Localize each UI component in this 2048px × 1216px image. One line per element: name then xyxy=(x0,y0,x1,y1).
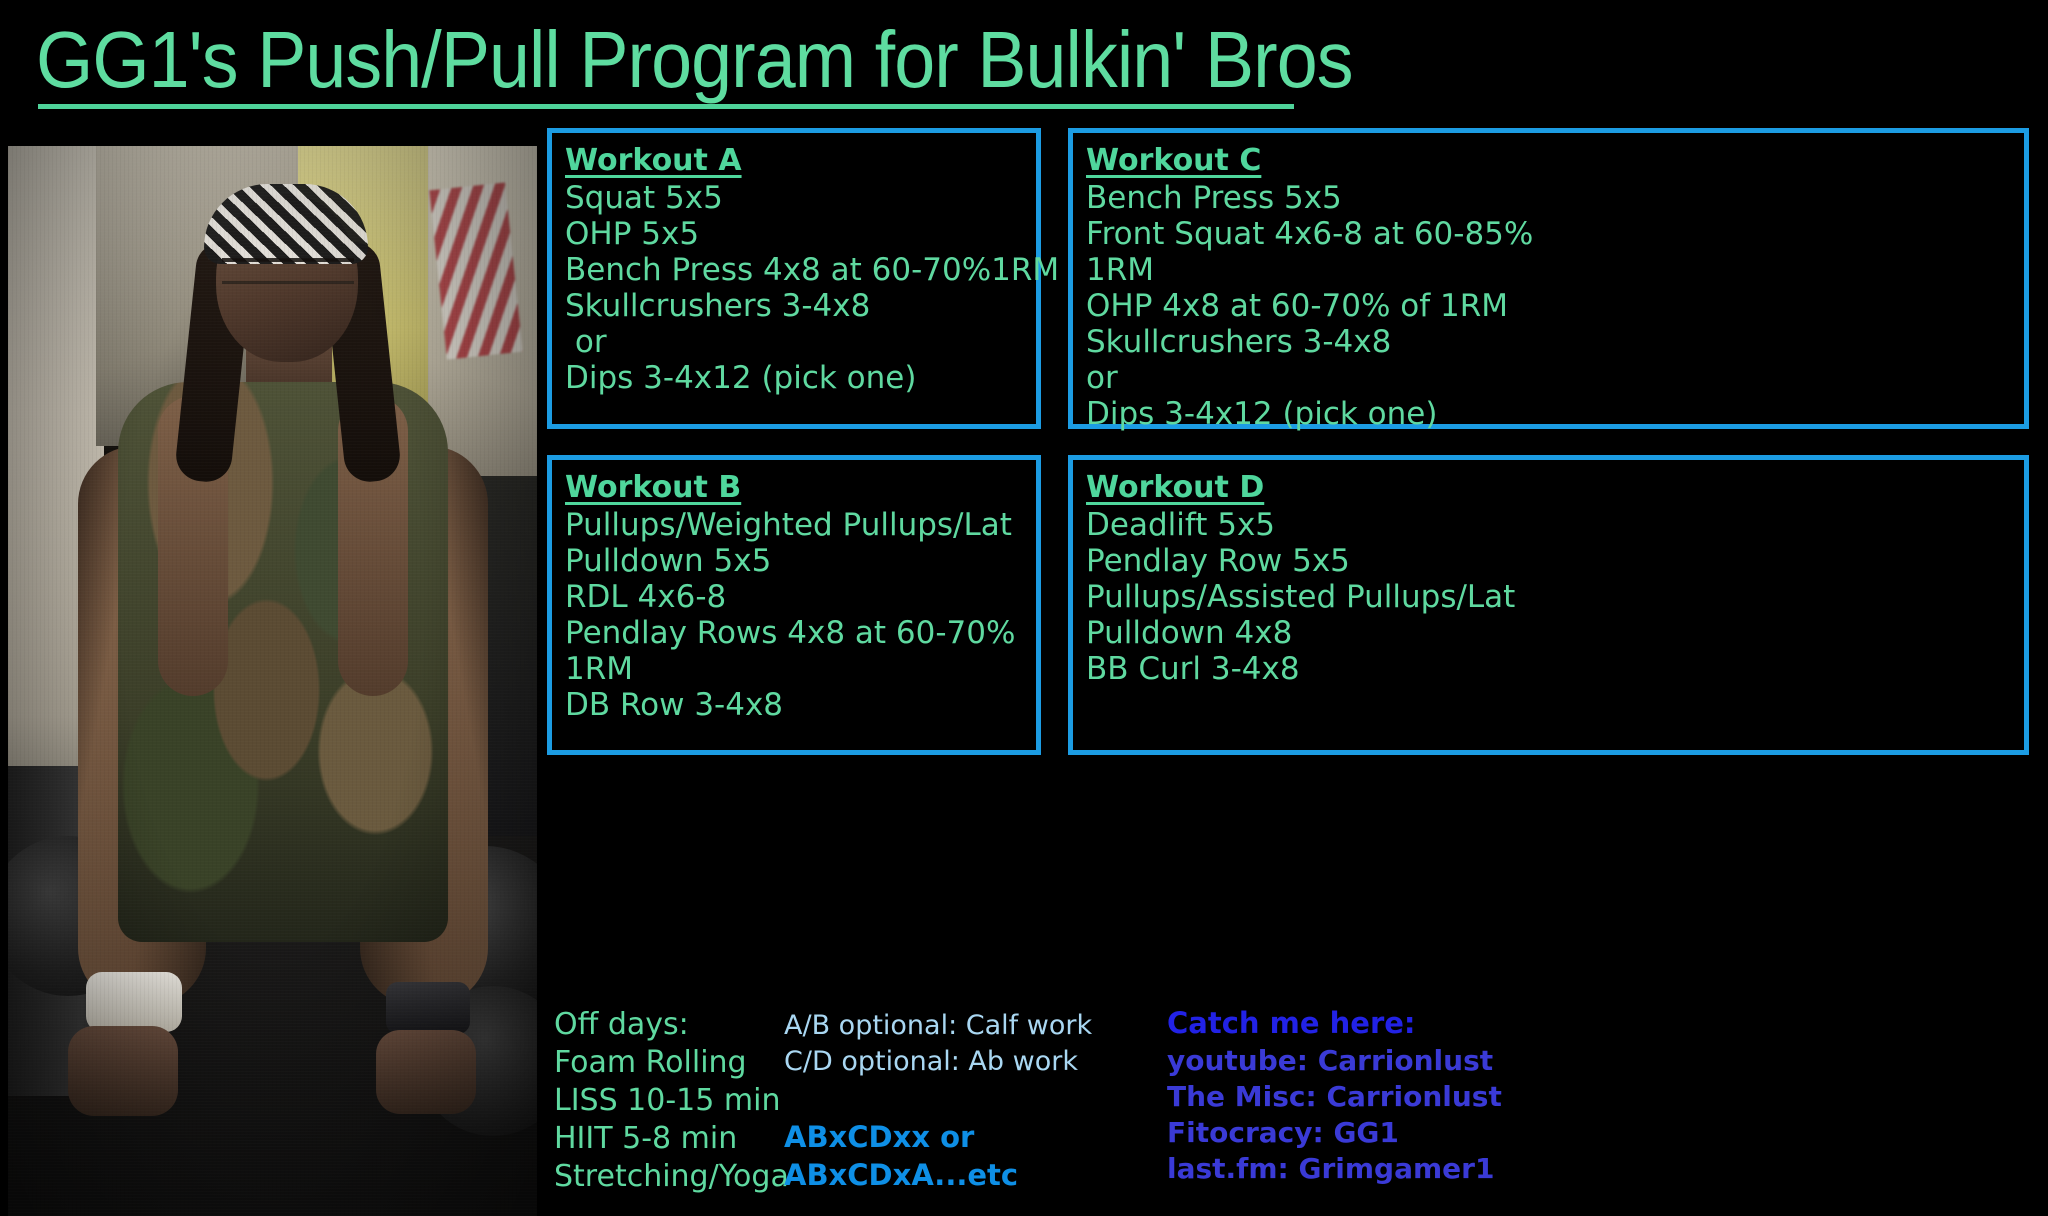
workout-d-exercise: Pendlay Row 5x5 xyxy=(1086,543,2024,579)
workout-a-exercise: Squat 5x5 xyxy=(565,180,1036,216)
workout-a-title: Workout A xyxy=(565,142,1036,180)
workout-b-exercise: Pendlay Rows 4x8 at 60-70% xyxy=(565,615,1036,651)
photo-vignette-overlay xyxy=(8,146,537,1216)
workout-c-title: Workout C xyxy=(1086,142,2024,180)
off-days-item: HIIT 5-8 min xyxy=(554,1120,789,1158)
off-days-item: LISS 10-15 min xyxy=(554,1082,789,1120)
workout-a-exercise: or xyxy=(565,324,1036,360)
optional-work-section: A/B optional: Calf work C/D optional: Ab… xyxy=(784,1008,1092,1080)
optional-work-item: C/D optional: Ab work xyxy=(784,1044,1092,1080)
workout-d-title: Workout D xyxy=(1086,469,2024,507)
workout-a-exercise: Dips 3-4x12 (pick one) xyxy=(565,360,1036,396)
workout-b-exercise: RDL 4x6-8 xyxy=(565,579,1036,615)
social-link-the-misc[interactable]: The Misc: Carrionlust xyxy=(1167,1079,1502,1115)
workout-c-exercise: or xyxy=(1086,360,2024,396)
workout-b-exercise: 1RM xyxy=(565,651,1036,687)
workout-c-exercise: 1RM xyxy=(1086,252,2024,288)
social-link-fitocracy[interactable]: Fitocracy: GG1 xyxy=(1167,1115,1502,1151)
workout-c-exercise: Front Squat 4x6-8 at 60-85% xyxy=(1086,216,2024,252)
catch-me-here-heading: Catch me here: xyxy=(1167,1004,1502,1043)
catch-me-here-section: Catch me here: youtube: Carrionlust The … xyxy=(1167,1004,1502,1187)
off-days-item: Stretching/Yoga xyxy=(554,1158,789,1196)
workout-a-card: Workout A Squat 5x5 OHP 5x5 Bench Press … xyxy=(547,128,1041,429)
workout-d-card: Workout D Deadlift 5x5 Pendlay Row 5x5 P… xyxy=(1068,455,2029,755)
schedule-sequence-line: ABxCDxx or xyxy=(784,1118,1018,1156)
workout-b-exercise: Pullups/Weighted Pullups/Lat xyxy=(565,507,1036,543)
title-underline xyxy=(38,104,1294,109)
off-days-section: Off days: Foam Rolling LISS 10-15 min HI… xyxy=(554,1006,789,1196)
workout-d-exercise: Pullups/Assisted Pullups/Lat xyxy=(1086,579,2024,615)
workout-d-exercise: BB Curl 3-4x8 xyxy=(1086,651,2024,687)
workout-b-card: Workout B Pullups/Weighted Pullups/Lat P… xyxy=(547,455,1041,755)
social-link-lastfm[interactable]: last.fm: Grimgamer1 xyxy=(1167,1151,1502,1187)
bodybuilder-photo xyxy=(8,146,537,1216)
social-link-youtube[interactable]: youtube: Carrionlust xyxy=(1167,1043,1502,1079)
workout-c-exercise: Skullcrushers 3-4x8 xyxy=(1086,324,2024,360)
page-title: GG1's Push/Pull Program for Bulkin' Bros xyxy=(36,18,1353,102)
workout-a-exercise: Skullcrushers 3-4x8 xyxy=(565,288,1036,324)
workout-d-exercise: Deadlift 5x5 xyxy=(1086,507,2024,543)
workout-c-exercise: OHP 4x8 at 60-70% of 1RM xyxy=(1086,288,2024,324)
workout-b-exercise: DB Row 3-4x8 xyxy=(565,687,1036,723)
workout-c-exercise: Bench Press 5x5 xyxy=(1086,180,2024,216)
schedule-sequence-line: ABxCDxA...etc xyxy=(784,1156,1018,1194)
off-days-heading: Off days: xyxy=(554,1006,789,1044)
workout-c-card: Workout C Bench Press 5x5 Front Squat 4x… xyxy=(1068,128,2029,429)
workout-c-exercise: Dips 3-4x12 (pick one) xyxy=(1086,396,2024,432)
workout-a-exercise: Bench Press 4x8 at 60-70%1RM xyxy=(565,252,1036,288)
title-bar: GG1's Push/Pull Program for Bulkin' Bros xyxy=(0,0,2048,132)
workout-b-title: Workout B xyxy=(565,469,1036,507)
workout-b-exercise: Pulldown 5x5 xyxy=(565,543,1036,579)
schedule-sequence-section: ABxCDxx or ABxCDxA...etc xyxy=(784,1118,1018,1194)
workout-d-exercise: Pulldown 4x8 xyxy=(1086,615,2024,651)
workout-a-exercise: OHP 5x5 xyxy=(565,216,1036,252)
optional-work-item: A/B optional: Calf work xyxy=(784,1008,1092,1044)
off-days-item: Foam Rolling xyxy=(554,1044,789,1082)
